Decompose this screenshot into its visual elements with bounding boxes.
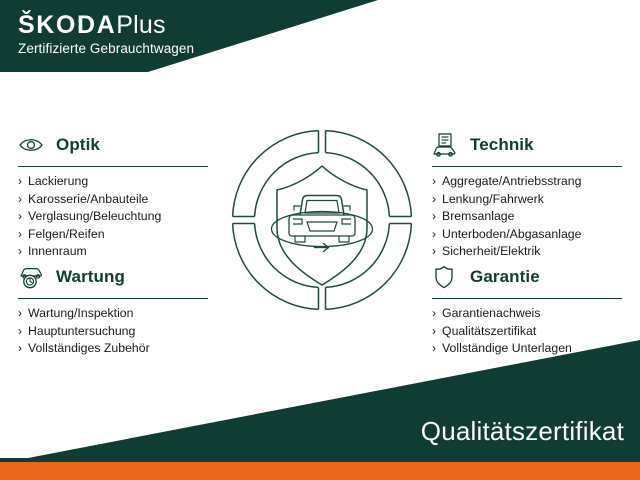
section-wartung-header: Wartung xyxy=(18,262,218,292)
chevron-right-icon: › xyxy=(18,305,22,323)
list-item: ›Lackierung xyxy=(18,173,218,191)
section-optik: Optik ›Lackierung ›Karosserie/Anbauteile… xyxy=(18,130,218,261)
list-item-label: Vollständige Unterlagen xyxy=(442,341,572,355)
section-wartung-list: ›Wartung/Inspektion ›Hauptuntersuchung ›… xyxy=(18,305,218,358)
list-item-label: Lenkung/Fahrwerk xyxy=(442,192,544,206)
list-item-label: Garantienachweis xyxy=(442,306,540,320)
list-item: ›Vollständige Unterlagen xyxy=(432,340,632,358)
footer-green-banner xyxy=(0,340,640,470)
list-item: ›Hauptuntersuchung xyxy=(18,323,218,341)
section-garantie-divider xyxy=(432,298,622,299)
logo-tagline: Zertifizierte Gebrauchtwagen xyxy=(18,41,194,57)
section-garantie-header: Garantie xyxy=(432,262,632,292)
section-optik-divider xyxy=(18,166,208,167)
chevron-right-icon: › xyxy=(18,226,22,244)
section-optik-title: Optik xyxy=(56,135,100,155)
section-garantie-list: ›Garantienachweis ›Qualitätszertifikat ›… xyxy=(432,305,632,358)
logo-brand-text: ŠKODA xyxy=(18,11,116,39)
shield-car-orbit-emblem xyxy=(229,127,415,313)
chevron-right-icon: › xyxy=(18,243,22,261)
eye-icon xyxy=(18,131,48,159)
chevron-right-icon: › xyxy=(18,340,22,358)
orange-accent-bar xyxy=(0,462,640,480)
list-item-label: Felgen/Reifen xyxy=(28,227,105,241)
list-item-label: Aggregate/Antriebsstrang xyxy=(442,174,581,188)
list-item-label: Karosserie/Anbauteile xyxy=(28,192,148,206)
chevron-right-icon: › xyxy=(432,243,436,261)
chevron-right-icon: › xyxy=(432,208,436,226)
list-item: ›Qualitätszertifikat xyxy=(432,323,632,341)
section-wartung-divider xyxy=(18,298,208,299)
list-item: ›Garantienachweis xyxy=(432,305,632,323)
list-item-label: Lackierung xyxy=(28,174,88,188)
section-technik-list: ›Aggregate/Antriebsstrang ›Lenkung/Fahrw… xyxy=(432,173,632,261)
list-item: ›Verglasung/Beleuchtung xyxy=(18,208,218,226)
list-item-label: Wartung/Inspektion xyxy=(28,306,134,320)
section-technik-header: Technik xyxy=(432,130,632,160)
logo-plus-text: Plus xyxy=(116,11,165,39)
chevron-right-icon: › xyxy=(432,173,436,191)
section-garantie-title: Garantie xyxy=(470,267,540,287)
section-optik-header: Optik xyxy=(18,130,218,160)
list-item-label: Innenraum xyxy=(28,244,87,258)
chevron-right-icon: › xyxy=(18,323,22,341)
list-item: ›Unterboden/Abgasanlage xyxy=(432,226,632,244)
list-item-label: Sicherheit/Elektrik xyxy=(442,244,540,258)
section-optik-list: ›Lackierung ›Karosserie/Anbauteile ›Verg… xyxy=(18,173,218,261)
chevron-right-icon: › xyxy=(432,191,436,209)
list-item: ›Lenkung/Fahrwerk xyxy=(432,191,632,209)
list-item: ›Vollständiges Zubehör xyxy=(18,340,218,358)
section-wartung-title: Wartung xyxy=(56,267,125,287)
list-item-label: Qualitätszertifikat xyxy=(442,324,536,338)
car-service-clock-icon xyxy=(18,263,48,291)
shield-icon xyxy=(432,263,462,291)
car-document-icon xyxy=(432,131,462,159)
list-item: ›Aggregate/Antriebsstrang xyxy=(432,173,632,191)
list-item-label: Bremsanlage xyxy=(442,209,514,223)
list-item-label: Verglasung/Beleuchtung xyxy=(28,209,161,223)
page-title: Qualitätszertifikat xyxy=(421,416,624,447)
chevron-right-icon: › xyxy=(18,173,22,191)
chevron-right-icon: › xyxy=(432,340,436,358)
section-technik: Technik ›Aggregate/Antriebsstrang ›Lenku… xyxy=(432,130,632,261)
certificate-page: ŠKODAPlus Zertifizierte Gebrauchtwagen O… xyxy=(0,0,640,480)
list-item: ›Wartung/Inspektion xyxy=(18,305,218,323)
chevron-right-icon: › xyxy=(18,208,22,226)
section-wartung: Wartung ›Wartung/Inspektion ›Hauptunters… xyxy=(18,262,218,358)
chevron-right-icon: › xyxy=(432,323,436,341)
list-item: ›Karosserie/Anbauteile xyxy=(18,191,218,209)
section-garantie: Garantie ›Garantienachweis ›Qualitätszer… xyxy=(432,262,632,358)
list-item: ›Sicherheit/Elektrik xyxy=(432,243,632,261)
skoda-plus-logo: ŠKODAPlus Zertifizierte Gebrauchtwagen xyxy=(18,12,194,57)
list-item: ›Felgen/Reifen xyxy=(18,226,218,244)
chevron-right-icon: › xyxy=(432,226,436,244)
section-technik-divider xyxy=(432,166,622,167)
section-technik-title: Technik xyxy=(470,135,534,155)
list-item-label: Hauptuntersuchung xyxy=(28,324,135,338)
chevron-right-icon: › xyxy=(432,305,436,323)
list-item-label: Vollständiges Zubehör xyxy=(28,341,150,355)
list-item-label: Unterboden/Abgasanlage xyxy=(442,227,581,241)
chevron-right-icon: › xyxy=(18,191,22,209)
list-item: ›Bremsanlage xyxy=(432,208,632,226)
list-item: ›Innenraum xyxy=(18,243,218,261)
logo-primary-line: ŠKODAPlus xyxy=(18,12,194,38)
